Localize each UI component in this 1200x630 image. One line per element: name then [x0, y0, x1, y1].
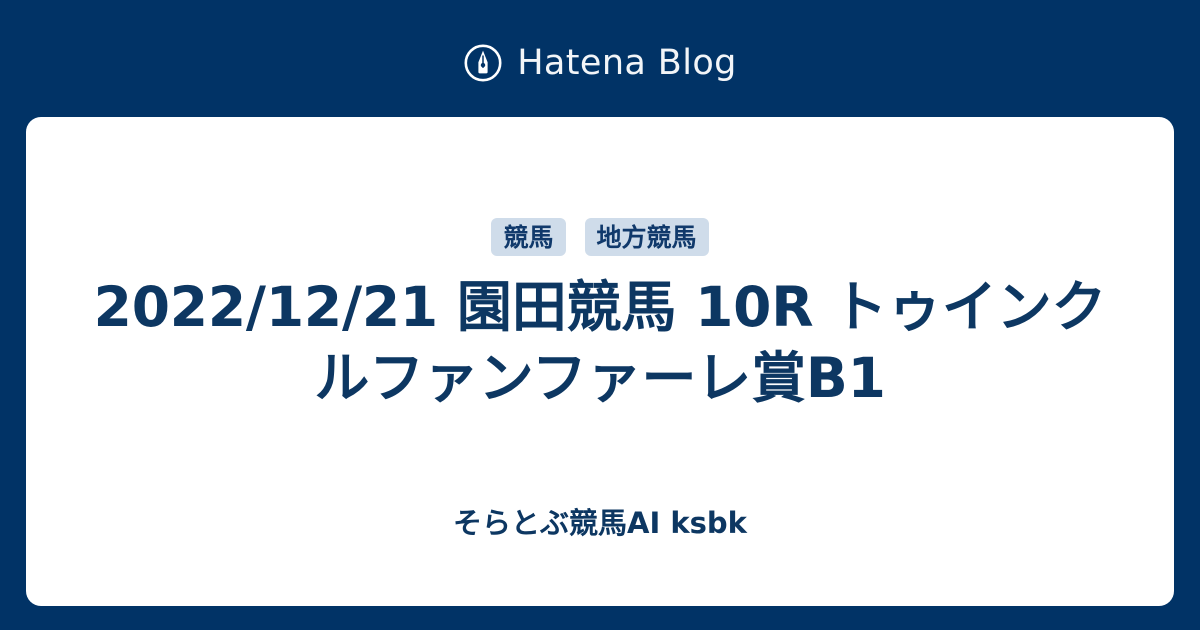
category-tag[interactable]: 地方競馬 [585, 218, 709, 256]
brand-name: Hatena Blog [517, 43, 737, 83]
hatena-pen-nib-icon [463, 43, 503, 83]
category-tag-list: 競馬 地方競馬 [491, 218, 708, 256]
og-image-card: Hatena Blog 競馬 地方競馬 2022/12/21 園田競馬 10R … [0, 0, 1200, 630]
entry-title: 2022/12/21 園田競馬 10R トゥインクルファンファーレ賞B1 [70, 272, 1130, 414]
content-panel: 競馬 地方競馬 2022/12/21 園田競馬 10R トゥインクルファンファー… [26, 117, 1174, 606]
category-tag[interactable]: 競馬 [491, 218, 565, 256]
blog-name: そらとぶ競馬AI ksbk [26, 506, 1174, 540]
hatena-blog-brand: Hatena Blog [0, 38, 1200, 88]
